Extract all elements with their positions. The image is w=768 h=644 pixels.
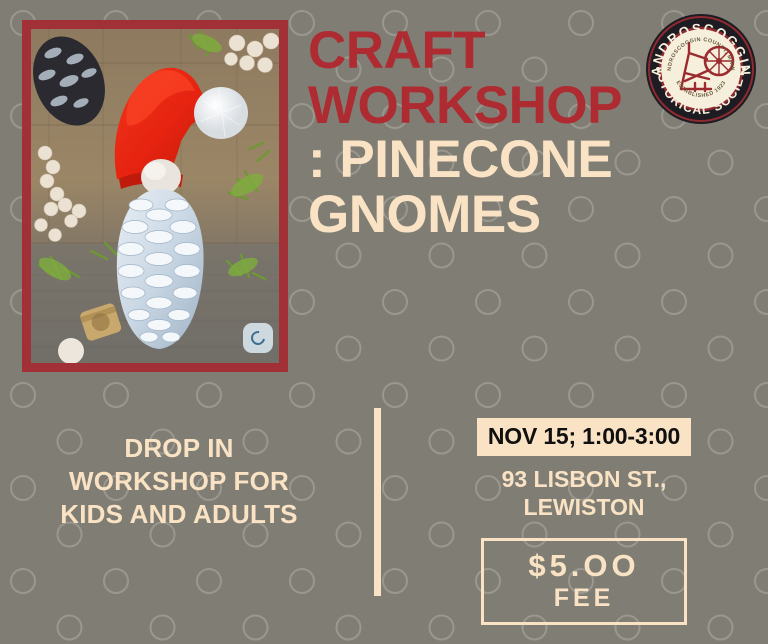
event-details: NOV 15; 1:00-3:00 93 LISBON ST., LEWISTO… — [455, 418, 713, 625]
workshop-description: DROP IN WORKSHOP FOR KIDS AND ADULTS — [20, 432, 338, 530]
address-line-1: 93 LISBON ST., — [502, 466, 667, 492]
camera-shutter-icon — [243, 323, 273, 353]
fee-amount: $5.OO — [484, 548, 684, 584]
photo-frame — [22, 20, 288, 372]
fee-label: FEE — [484, 584, 684, 613]
page-title: CRAFT WORKSHOP : PINECONE GNOMES — [308, 24, 678, 242]
blurb-line-1: DROP IN — [124, 433, 233, 463]
address: 93 LISBON ST., LEWISTON — [455, 466, 713, 521]
address-line-2: LEWISTON — [524, 494, 645, 520]
fee-box: $5.OO FEE — [481, 538, 687, 624]
title-line-1: CRAFT — [308, 24, 678, 79]
title-line-4: GNOMES — [308, 188, 678, 243]
flyer-canvas: ANDROSCOGGIN HISTORICAL SOCIETY ANDROSCO… — [0, 0, 768, 644]
vertical-divider — [374, 408, 381, 596]
blurb-line-2: WORKSHOP FOR — [69, 466, 289, 496]
blurb-line-3: KIDS AND ADULTS — [60, 499, 297, 529]
pinecone-gnome-photo — [31, 29, 279, 363]
title-line-2: WORKSHOP — [308, 79, 678, 134]
title-line-3: : PINECONE — [308, 133, 678, 188]
date-time-badge: NOV 15; 1:00-3:00 — [477, 418, 691, 456]
